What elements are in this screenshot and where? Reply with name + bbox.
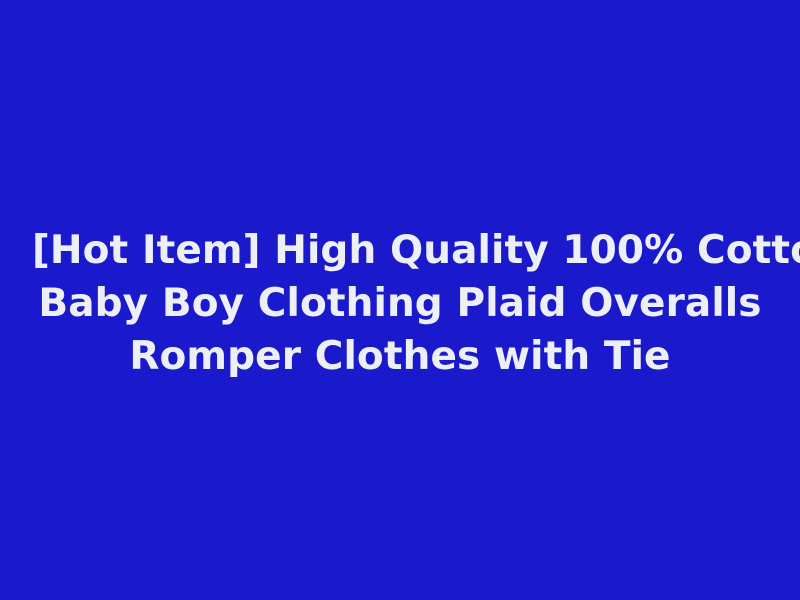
product-title-line-2: Baby Boy Clothing Plaid Overalls bbox=[32, 277, 768, 330]
product-title-line-3: Romper Clothes with Tie bbox=[32, 330, 768, 383]
product-title-line-1: [Hot Item] High Quality 100% Cotton bbox=[32, 224, 768, 277]
title-card: [Hot Item] High Quality 100% Cotton Baby… bbox=[0, 0, 800, 600]
product-title: [Hot Item] High Quality 100% Cotton Baby… bbox=[20, 224, 780, 383]
